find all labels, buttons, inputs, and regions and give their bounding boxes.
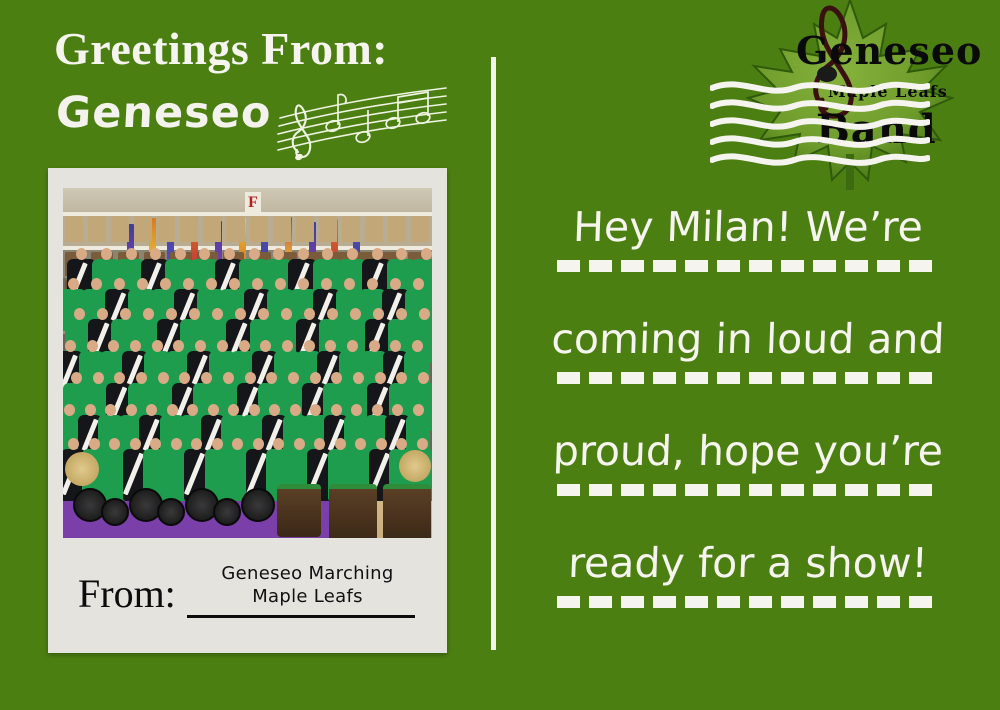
band-member-head	[217, 340, 228, 352]
message-line-text: proud, hope you’re	[495, 420, 1000, 482]
band-logo: Geneseo Maple Leafs Band	[700, 0, 1000, 194]
cymbal	[399, 450, 431, 482]
band-member-head	[229, 278, 240, 290]
photo-caption: From: Geneseo Marching Maple Leafs	[48, 548, 447, 653]
tenor-drum	[213, 498, 241, 526]
band-member-head	[353, 372, 364, 384]
message-line: Hey Milan! We’re	[496, 196, 1000, 308]
band-member-head	[249, 248, 260, 260]
band-member-head	[87, 340, 98, 352]
band-member-head	[290, 404, 301, 416]
band-member-head	[158, 372, 169, 384]
bleacher-seat	[111, 216, 129, 242]
band-member-head	[137, 278, 148, 290]
message-block: Hey Milan! We’re coming in loud and prou…	[496, 196, 1000, 644]
band-member-head	[421, 248, 432, 260]
from-value-text: Geneseo Marching Maple Leafs	[200, 562, 415, 608]
bleacher-seat	[319, 216, 337, 242]
band-member-head	[166, 308, 177, 320]
bleacher-seat	[65, 216, 83, 242]
greeting-city-label: Geneseo	[55, 92, 273, 135]
tenor-drum	[101, 498, 129, 526]
band-group-photo: F 0	[63, 188, 432, 538]
band-member-head	[372, 404, 383, 416]
from-label: From:	[78, 570, 176, 617]
bleacher-seat	[411, 216, 429, 242]
band-member-head	[347, 248, 358, 260]
band-member-head	[375, 372, 386, 384]
band-member-head	[347, 340, 358, 352]
postmark-wavy-lines-icon	[710, 78, 930, 174]
band-member-head	[258, 308, 269, 320]
band-member-head	[249, 404, 260, 416]
band-member-head	[152, 340, 163, 352]
band-member-head	[120, 308, 131, 320]
band-member-head	[212, 308, 223, 320]
band-member-head	[143, 308, 154, 320]
band-member-head	[65, 340, 76, 352]
bleacher-seat	[365, 216, 383, 242]
band-member-head	[331, 404, 342, 416]
bleacher-seat	[226, 216, 244, 242]
bleacher-seat	[342, 216, 360, 242]
band-member-head	[130, 340, 141, 352]
band-member-head	[369, 340, 380, 352]
band-member-head	[74, 308, 85, 320]
message-line-text: Hey Milan! We’re	[495, 196, 1000, 258]
message-line-underline	[557, 372, 939, 384]
band-member-head	[304, 340, 315, 352]
band-member-head	[189, 308, 200, 320]
band-member-head	[126, 248, 137, 260]
tenor-drum	[157, 498, 185, 526]
message-line-underline	[557, 484, 939, 496]
band-member-head	[101, 248, 112, 260]
band-member-head	[298, 248, 309, 260]
band-member-head	[252, 278, 263, 290]
bleacher-seat	[88, 216, 106, 242]
polaroid-photo-frame: F 0	[48, 168, 447, 653]
bass-drum	[329, 484, 377, 538]
tenor-drum	[241, 488, 275, 522]
band-member-head	[171, 438, 182, 450]
from-underline	[187, 615, 415, 618]
cymbal	[65, 452, 99, 486]
band-member-head	[167, 404, 178, 416]
bleacher-seat	[157, 216, 175, 242]
message-line: ready for a show!	[496, 532, 1000, 644]
band-member-head	[97, 308, 108, 320]
bass-drum	[277, 484, 321, 537]
band-member-head	[335, 438, 346, 450]
bleacher-seat	[134, 216, 152, 242]
postcard-canvas: Greetings From: Geneseo F	[0, 0, 1000, 710]
band-member-head	[160, 278, 171, 290]
band-member-head	[91, 278, 102, 290]
band-member-head	[235, 308, 246, 320]
bleacher-seat	[296, 216, 314, 242]
message-line-text: ready for a show!	[495, 532, 1000, 594]
band-member-head	[68, 278, 79, 290]
bleacher-seat	[250, 216, 268, 242]
message-line-underline	[557, 260, 939, 272]
band-member-head	[201, 372, 212, 384]
section-letter-sign: F	[245, 192, 261, 214]
music-staff-notes-icon	[276, 78, 448, 162]
band-member-head	[282, 340, 293, 352]
band-member-head	[223, 372, 234, 384]
band-member-head	[130, 438, 141, 450]
band-member-head	[310, 372, 321, 384]
message-line-text: coming in loud and	[495, 308, 1000, 370]
band-member-head	[206, 278, 217, 290]
band-member-head	[376, 438, 387, 450]
band-member-head	[195, 340, 206, 352]
band-member-head	[126, 404, 137, 416]
band-member-head	[273, 248, 284, 260]
band-member-head	[114, 278, 125, 290]
band-member-head	[281, 308, 292, 320]
band-member-head	[93, 372, 104, 384]
bleacher-seat	[273, 216, 291, 242]
band-member-head	[89, 438, 100, 450]
bleacher-seat	[203, 216, 221, 242]
bleacher-seat	[180, 216, 198, 242]
band-member-head	[288, 372, 299, 384]
band-member-head	[71, 372, 82, 384]
message-line-underline	[557, 596, 939, 608]
band-member-head	[224, 248, 235, 260]
band-member-head	[253, 438, 264, 450]
band-member-head	[175, 248, 186, 260]
band-member-head	[239, 340, 250, 352]
band-member-head	[245, 372, 256, 384]
band-member-head	[150, 248, 161, 260]
band-member-head	[136, 372, 147, 384]
band-member-head	[208, 404, 219, 416]
page-title: Greetings From:	[54, 26, 388, 72]
bass-drum	[383, 484, 431, 538]
bleacher-seat	[388, 216, 406, 242]
band-member-head	[85, 404, 96, 416]
message-line: coming in loud and	[496, 308, 1000, 420]
band-member-head	[294, 438, 305, 450]
band-member-head	[417, 438, 428, 450]
band-member-head	[396, 248, 407, 260]
band-member-head	[212, 438, 223, 450]
message-line: proud, hope you’re	[496, 420, 1000, 532]
band-member-head	[275, 278, 286, 290]
band-member-head	[372, 248, 383, 260]
band-member-head	[183, 278, 194, 290]
logo-name-text: Geneseo	[796, 28, 982, 73]
band-member-head	[413, 404, 424, 416]
